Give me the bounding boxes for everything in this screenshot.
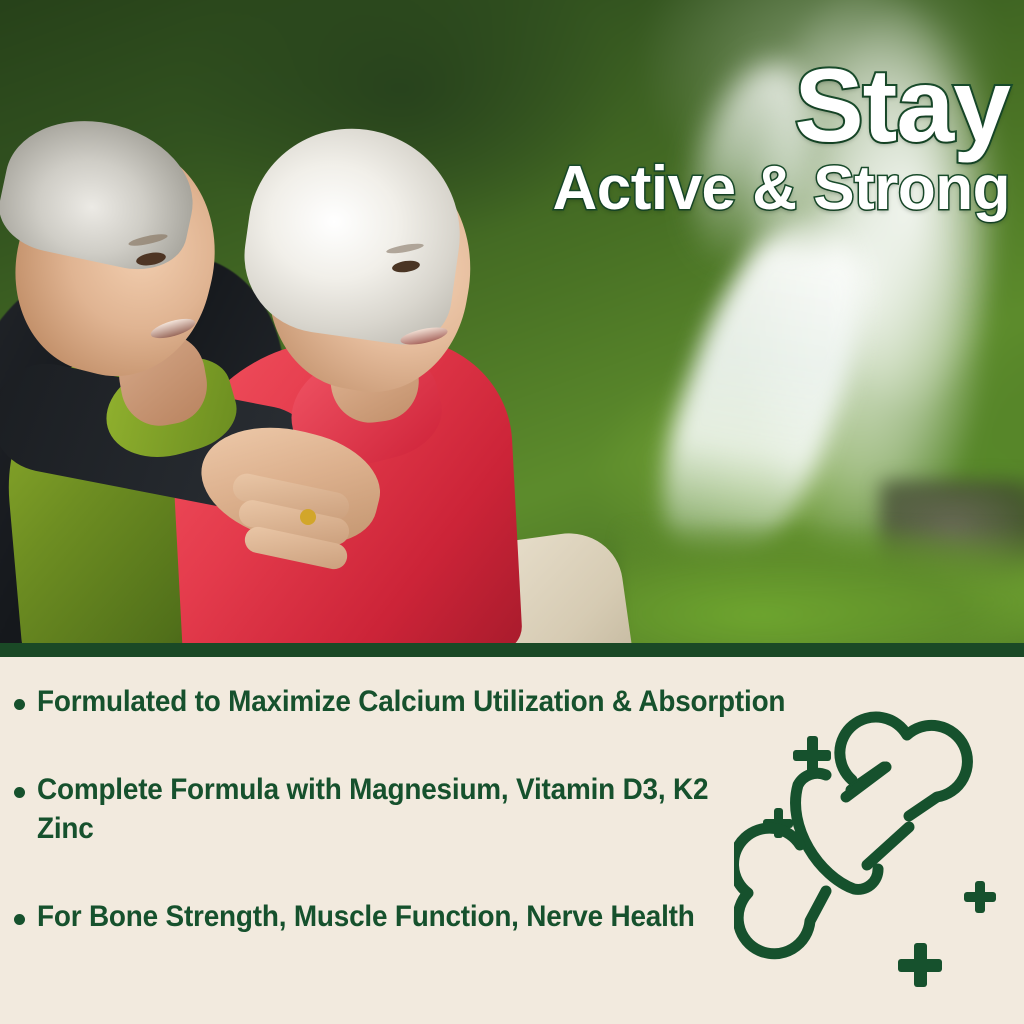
benefit-text: Formulated to Maximize Calcium Utilizati… — [37, 683, 785, 721]
benefit-item-1: Formulated to Maximize Calcium Utilizati… — [10, 683, 870, 721]
foliage-shrub — [620, 525, 1024, 645]
promo-banner: Stay Active & Strong — [0, 0, 1024, 1024]
benefit-item-3: For Bone Strength, Muscle Function, Nerv… — [10, 898, 870, 936]
headline-line-1: Stay — [370, 58, 1010, 156]
benefits-panel: Formulated to Maximize Calcium Utilizati… — [0, 657, 1024, 1024]
bullet-dot-icon — [14, 787, 25, 798]
headline: Stay Active & Strong — [370, 58, 1010, 218]
benefit-list: Formulated to Maximize Calcium Utilizati… — [10, 683, 870, 937]
wedding-ring — [300, 509, 316, 525]
headline-line-2: Active & Strong — [370, 160, 1010, 218]
bullet-dot-icon — [14, 699, 25, 710]
benefit-item-2: Complete Formula with Magnesium, Vitamin… — [10, 771, 870, 848]
bone-shaft-line-b — [867, 827, 909, 865]
divider-bar — [0, 643, 1024, 657]
benefit-text: For Bone Strength, Muscle Function, Nerv… — [37, 898, 695, 936]
bullet-dot-icon — [14, 914, 25, 925]
hero-photo: Stay Active & Strong — [0, 0, 1024, 645]
benefit-text: Complete Formula with Magnesium, Vitamin… — [37, 771, 708, 848]
